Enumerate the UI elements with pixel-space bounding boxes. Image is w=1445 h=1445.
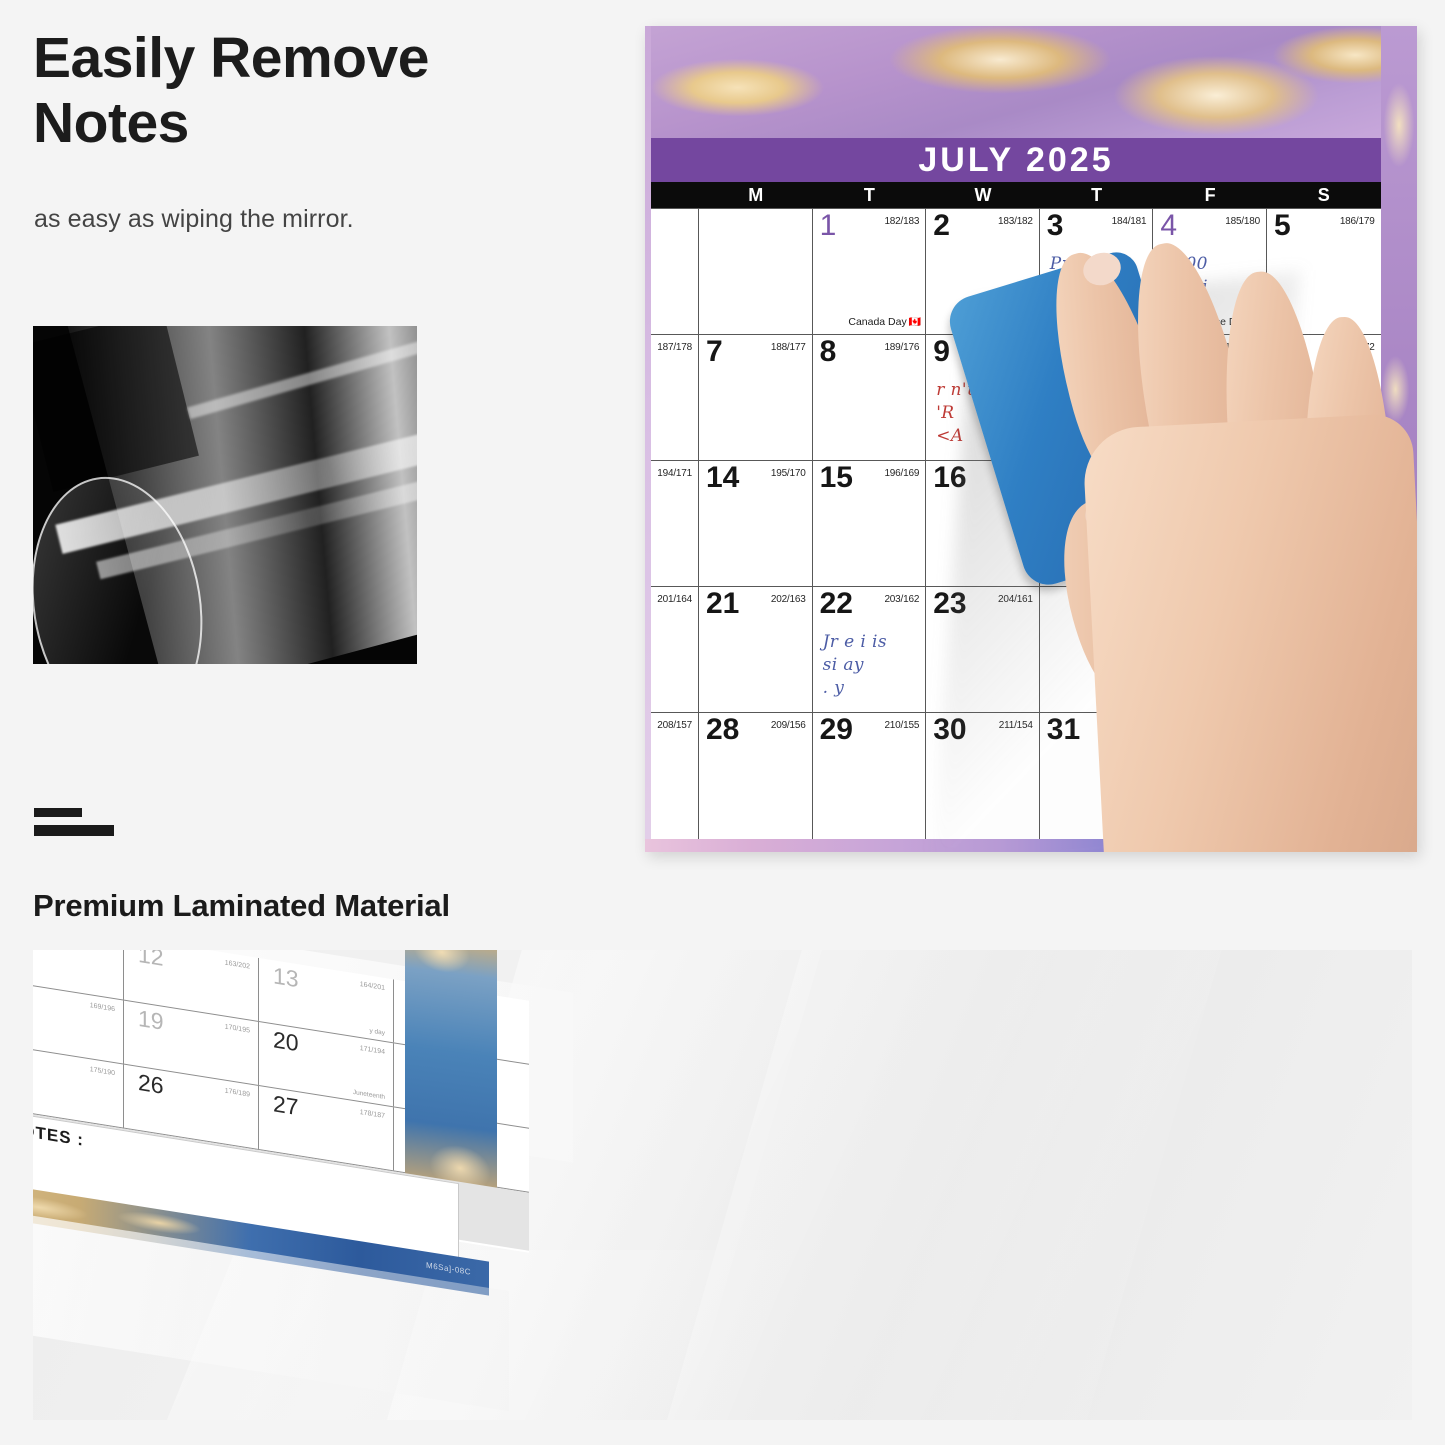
- notes-label: NOTES :: [33, 1119, 84, 1151]
- day-cell-15[interactable]: 15196/169: [813, 461, 927, 586]
- julian-date: 211/154: [999, 720, 1033, 731]
- day-number: 10: [1047, 337, 1080, 367]
- day-cell-empty[interactable]: [1267, 587, 1381, 712]
- mini-day-number: 20: [273, 1026, 299, 1057]
- mini-julian-date: 171/194: [360, 1045, 385, 1056]
- day-number: 4: [1160, 211, 1177, 241]
- easily-remove-notes-section: Easily Remove Notes as easy as wiping th…: [0, 0, 1445, 878]
- day-cell-empty[interactable]: [1153, 587, 1267, 712]
- day-number: 1: [820, 211, 837, 241]
- handwritten-note: r n'u'R<A: [936, 379, 1033, 448]
- julian-date: 185/180: [1225, 216, 1260, 227]
- day-number: 30: [933, 715, 966, 745]
- day-number: 23: [933, 589, 966, 619]
- section-divider-mark: [34, 808, 114, 836]
- day-cell-empty[interactable]: [1153, 713, 1267, 839]
- handwritten-note: Pre reL ch: [1050, 253, 1147, 299]
- day-cell-empty[interactable]: [1040, 461, 1154, 586]
- day-number: 2: [933, 211, 950, 241]
- mini-day-number: 26: [138, 1069, 164, 1100]
- page-subheadline: as easy as wiping the mirror.: [34, 205, 354, 234]
- material-layer-stack: 11162/20312163/20213164/201y day18169/19…: [33, 950, 593, 1420]
- julian-date: 201/164: [657, 594, 692, 605]
- wall-calendar-photo: JULY 2025 MTWTFS 1182/183Canada Day🇨🇦218…: [645, 26, 1417, 852]
- mini-holiday-label: y day: [369, 1027, 385, 1036]
- julian-date: 209/156: [771, 720, 806, 731]
- day-cell-10[interactable]: 10191/174: [1040, 335, 1154, 460]
- day-cell-29[interactable]: 29210/155: [813, 713, 927, 839]
- weekday-header-partial: [651, 182, 699, 208]
- julian-date: /165: [1356, 468, 1375, 479]
- calendar-week-row: 208/15728209/15629210/15530211/15431212/: [651, 713, 1381, 839]
- edge-code-text: M6Sa]-08C: [426, 1261, 471, 1277]
- mini-julian-date: 163/202: [225, 960, 250, 971]
- divider-bar-long: [34, 825, 114, 836]
- mini-julian-date: 175/190: [90, 1066, 115, 1077]
- julian-date: 195/170: [771, 468, 806, 479]
- day-cell-3[interactable]: 3184/181Pre reL ch: [1040, 209, 1154, 334]
- day-number: 7: [706, 337, 723, 367]
- day-cell-2[interactable]: 2183/182: [926, 209, 1040, 334]
- julian-date: 204/161: [998, 594, 1033, 605]
- marble-border-right: [1381, 26, 1417, 852]
- day-cell-30[interactable]: 30211/154: [926, 713, 1040, 839]
- day-number: 5: [1274, 211, 1291, 241]
- page-headline: Easily Remove Notes: [33, 26, 593, 156]
- day-number: 28: [706, 715, 739, 745]
- day-cell-empty[interactable]: /165: [1267, 461, 1381, 586]
- day-cell-empty[interactable]: [699, 209, 813, 334]
- section-title: Premium Laminated Material: [33, 888, 450, 924]
- weekday-header-row: MTWTFS: [651, 182, 1381, 208]
- weekday-header-t-4: T: [1040, 182, 1154, 208]
- day-number: 12: [1274, 337, 1307, 367]
- holiday-label: Independence Day🇺🇸: [1153, 316, 1262, 328]
- weekday-header-m-1: M: [699, 182, 813, 208]
- mini-day-number: 13: [273, 962, 299, 993]
- julian-date: 188/177: [771, 342, 806, 353]
- day-number: 14: [706, 463, 739, 493]
- day-number: 8: [820, 337, 837, 367]
- mini-julian-date: 176/189: [225, 1088, 250, 1099]
- day-cell-empty[interactable]: [1040, 587, 1154, 712]
- julian-date: 208/157: [657, 720, 692, 731]
- day-number: 3: [1047, 211, 1064, 241]
- country-flag-icon: 🇺🇸: [1250, 317, 1262, 328]
- day-cell-23[interactable]: 23204/161: [926, 587, 1040, 712]
- julian-date: 189/176: [884, 342, 919, 353]
- month-title-banner: JULY 2025: [651, 138, 1381, 182]
- calendar-grid: 1182/183Canada Day🇨🇦2183/1823184/181Pre …: [651, 208, 1381, 838]
- julian-date: 202/163: [771, 594, 806, 605]
- julian-date: 196/169: [884, 468, 919, 479]
- laminated-material-panel: 11162/20312163/20213164/201y day18169/19…: [33, 950, 1412, 1420]
- day-cell-empty[interactable]: [651, 209, 699, 334]
- day-cell-empty[interactable]: 187/178: [651, 335, 699, 460]
- day-number: 15: [820, 463, 853, 493]
- handwritten-note: 1' 00N eti.. ung: [1163, 253, 1260, 322]
- julian-date: 183/182: [998, 216, 1033, 227]
- calendar-week-row: 201/16421202/16322203/162Jr e i issi ay …: [651, 587, 1381, 713]
- calendar-week-row: 194/17114195/17015196/16916/165: [651, 461, 1381, 587]
- country-flag-icon: 🇨🇦: [909, 317, 921, 328]
- day-cell-empty[interactable]: [1153, 461, 1267, 586]
- julian-date: 190/175: [998, 342, 1033, 353]
- day-number: 29: [820, 715, 853, 745]
- weekday-header-t-2: T: [813, 182, 927, 208]
- day-number: 9: [933, 337, 950, 367]
- day-cell-5[interactable]: 5186/179: [1267, 209, 1381, 334]
- mini-julian-date: 169/196: [90, 1002, 115, 1013]
- julian-date: 191/174: [1112, 342, 1147, 353]
- day-cell-empty[interactable]: 194/171: [651, 461, 699, 586]
- day-cell-8[interactable]: 8189/176: [813, 335, 927, 460]
- day-cell-31[interactable]: 31212/: [1040, 713, 1154, 839]
- day-cell-empty[interactable]: 201/164: [651, 587, 699, 712]
- mini-julian-date: 164/201: [360, 981, 385, 992]
- day-cell-empty[interactable]: [1267, 713, 1381, 839]
- divider-bar-short: [34, 808, 82, 817]
- day-cell-7[interactable]: 7188/177: [699, 335, 813, 460]
- julian-date: 192/173: [1225, 342, 1260, 353]
- day-cell-14[interactable]: 14195/170: [699, 461, 813, 586]
- month-title: JULY 2025: [918, 141, 1113, 180]
- julian-date: 186/179: [1340, 216, 1375, 227]
- day-cell-22[interactable]: 22203/162Jr e i issi ay . y: [813, 587, 927, 712]
- day-cell-21[interactable]: 21202/163: [699, 587, 813, 712]
- day-number: 16: [933, 463, 966, 493]
- julian-date: 187/178: [657, 342, 692, 353]
- julian-date: 212/: [1128, 720, 1147, 731]
- julian-date: 194/171: [657, 468, 692, 479]
- mini-marble-side-border: [405, 950, 497, 1205]
- julian-date: 210/155: [884, 720, 919, 731]
- julian-date: 193/172: [1340, 342, 1375, 353]
- day-number: 11: [1160, 337, 1192, 367]
- day-cell-12[interactable]: 12193/172: [1267, 335, 1381, 460]
- day-cell-empty[interactable]: 208/157: [651, 713, 699, 839]
- julian-date: 182/183: [884, 216, 919, 227]
- day-number: 21: [706, 589, 739, 619]
- calendar-week-row: 187/1787188/1778189/1769190/175r n'u'R<A…: [651, 335, 1381, 461]
- day-cell-11[interactable]: 11192/173: [1153, 335, 1267, 460]
- calendar-week-row: 1182/183Canada Day🇨🇦2183/1823184/181Pre …: [651, 209, 1381, 335]
- weekday-header-f-5: F: [1153, 182, 1267, 208]
- holiday-label: Canada Day🇨🇦: [813, 316, 922, 328]
- weekday-header-s-6: S: [1267, 182, 1381, 208]
- weekday-header-w-3: W: [926, 182, 1040, 208]
- mini-day-number: 27: [273, 1090, 299, 1121]
- handwritten-note: Jr e i issi ay . y: [823, 631, 920, 700]
- mini-day-number: 19: [138, 1005, 164, 1036]
- julian-date: 184/181: [1112, 216, 1147, 227]
- day-number: 31: [1047, 715, 1080, 745]
- mini-julian-date: 170/195: [225, 1024, 250, 1035]
- day-cell-16[interactable]: 16: [926, 461, 1040, 586]
- day-cell-4[interactable]: 4185/1801' 00N eti.. ungIndependence Day…: [1153, 209, 1267, 334]
- pet-film-photo: [33, 326, 417, 664]
- day-cell-9[interactable]: 9190/175r n'u'R<A: [926, 335, 1040, 460]
- julian-date: 203/162: [884, 594, 919, 605]
- marble-border-bottom: [645, 839, 1417, 852]
- day-cell-28[interactable]: 28209/156: [699, 713, 813, 839]
- mini-holiday-label: Juneteenth: [353, 1089, 385, 1101]
- day-number: 22: [820, 589, 853, 619]
- mini-julian-date: 178/187: [360, 1109, 385, 1120]
- marble-border-top: [645, 26, 1417, 138]
- day-cell-1[interactable]: 1182/183Canada Day🇨🇦: [813, 209, 927, 334]
- mini-day-number: 12: [138, 950, 164, 972]
